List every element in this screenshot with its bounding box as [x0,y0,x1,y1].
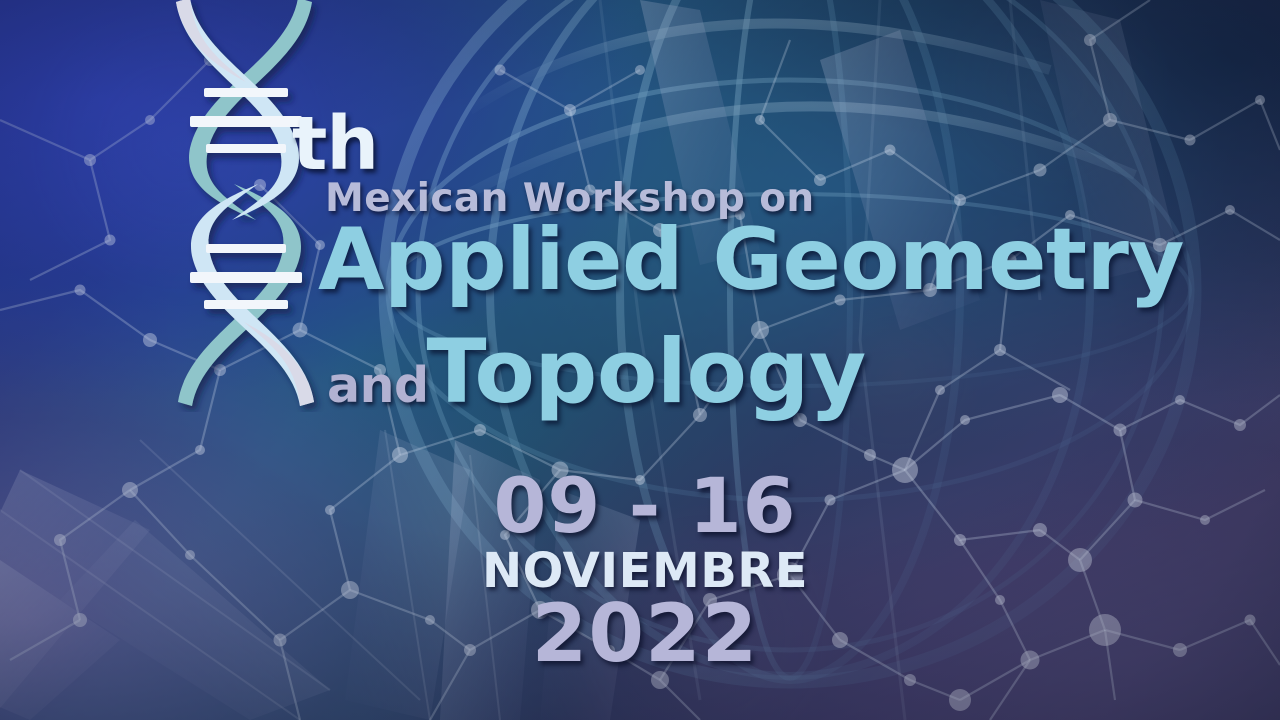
date-block: 09 - 16 NOVIEMBRE 2022 [430,468,860,674]
date-range: 09 - 16 [430,468,860,544]
dna-double-helix-icon [160,0,330,412]
date-year: 2022 [430,594,860,674]
poster-title-line-2-row: and Topology [327,320,866,423]
conference-poster: th Mexican Workshop on Applied Geometry … [0,0,1280,720]
ordinal-row: th [292,86,378,178]
ordinal-suffix: th [292,110,378,178]
poster-title-line-2: Topology [427,320,866,423]
poster-title-line-1: Applied Geometry [318,210,1184,310]
title-conjunction: and [327,357,429,414]
